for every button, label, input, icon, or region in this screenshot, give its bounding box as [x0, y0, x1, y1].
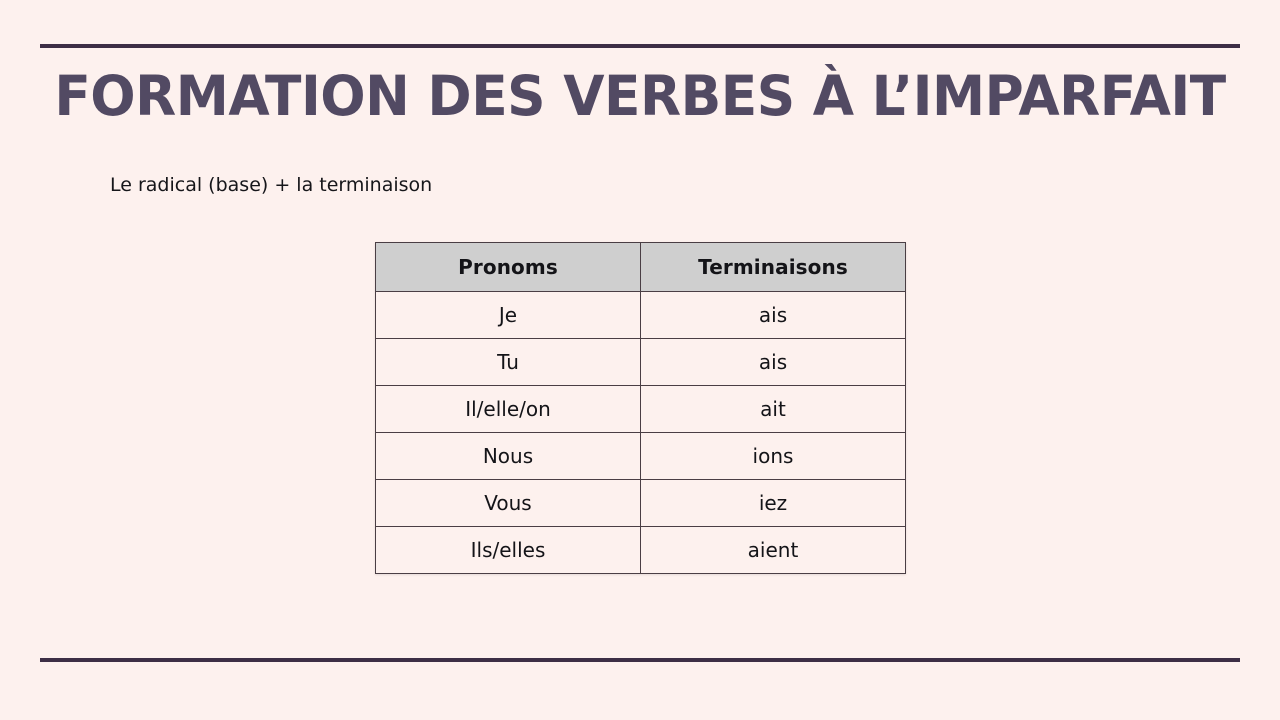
cell-terminaison: ais	[641, 292, 906, 339]
table-row: Nous ions	[376, 433, 906, 480]
cell-terminaison: aient	[641, 527, 906, 574]
cell-pronom: Nous	[376, 433, 641, 480]
conjugation-table-wrapper: Pronoms Terminaisons Je ais Tu ais Il/el…	[375, 242, 905, 574]
table-row: Ils/elles aient	[376, 527, 906, 574]
cell-terminaison: iez	[641, 480, 906, 527]
table-header-row: Pronoms Terminaisons	[376, 243, 906, 292]
cell-pronom: Il/elle/on	[376, 386, 641, 433]
table-row: Tu ais	[376, 339, 906, 386]
cell-pronom: Tu	[376, 339, 641, 386]
column-header-pronoms: Pronoms	[376, 243, 641, 292]
table-row: Vous iez	[376, 480, 906, 527]
slide: FORMATION DES VERBES À L’IMPARFAIT Le ra…	[0, 0, 1280, 720]
page-title: FORMATION DES VERBES À L’IMPARFAIT	[19, 68, 1261, 126]
top-divider-rule	[40, 44, 1240, 48]
table-row: Je ais	[376, 292, 906, 339]
table-header: Pronoms Terminaisons	[376, 243, 906, 292]
cell-terminaison: ions	[641, 433, 906, 480]
subtitle-text: Le radical (base) + la terminaison	[110, 173, 432, 198]
cell-terminaison: ait	[641, 386, 906, 433]
bottom-divider-rule	[40, 658, 1240, 662]
conjugation-table: Pronoms Terminaisons Je ais Tu ais Il/el…	[375, 242, 906, 574]
cell-pronom: Ils/elles	[376, 527, 641, 574]
column-header-terminaisons: Terminaisons	[641, 243, 906, 292]
cell-pronom: Je	[376, 292, 641, 339]
cell-pronom: Vous	[376, 480, 641, 527]
table-row: Il/elle/on ait	[376, 386, 906, 433]
cell-terminaison: ais	[641, 339, 906, 386]
table-body: Je ais Tu ais Il/elle/on ait Nous ions V…	[376, 292, 906, 574]
